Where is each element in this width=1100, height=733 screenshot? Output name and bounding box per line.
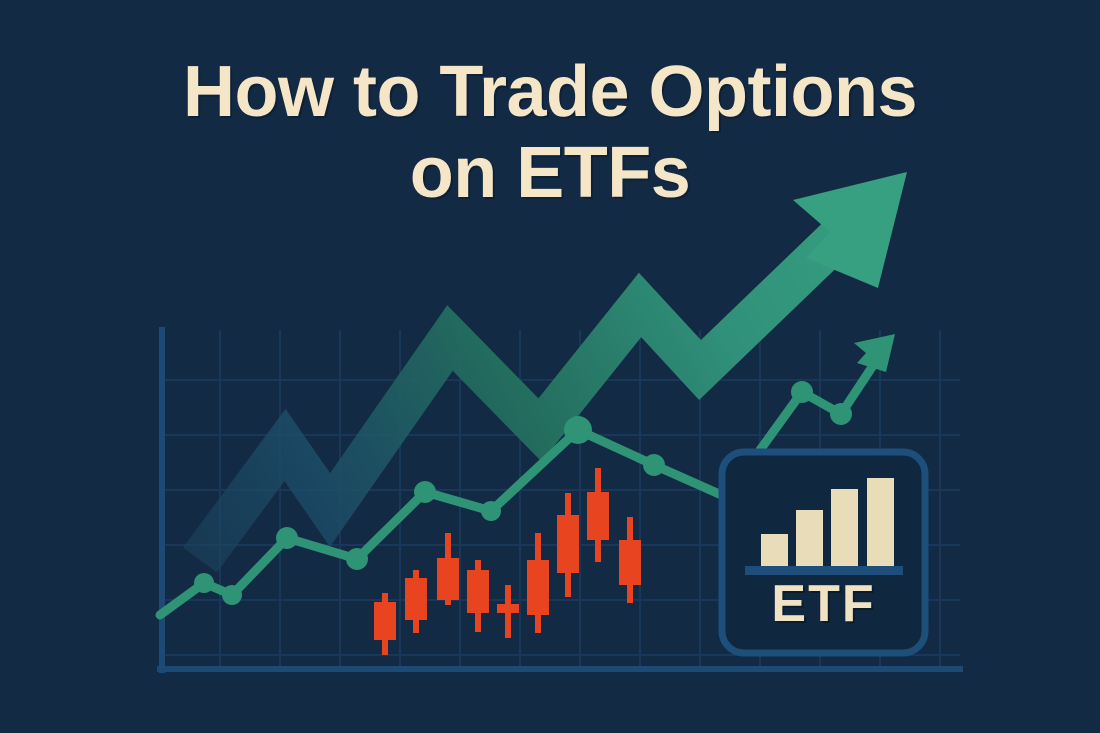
badge-bar — [867, 478, 894, 568]
line-marker — [222, 585, 242, 605]
line-marker — [481, 501, 501, 521]
line-marker — [346, 548, 368, 570]
line-marker — [643, 454, 665, 476]
line-marker — [830, 403, 852, 425]
line-marker — [564, 416, 592, 444]
line-marker — [414, 481, 436, 503]
poster-canvas: How to Trade Options on ETFs ETF — [0, 0, 1100, 733]
badge-bar — [796, 510, 823, 568]
badge-bar — [761, 534, 788, 568]
line-marker — [791, 381, 813, 403]
etf-badge-label: ETF — [722, 574, 925, 634]
badge-bar — [831, 489, 858, 568]
line-marker — [194, 573, 214, 593]
chart-artwork — [0, 0, 1100, 733]
line-marker — [276, 527, 298, 549]
